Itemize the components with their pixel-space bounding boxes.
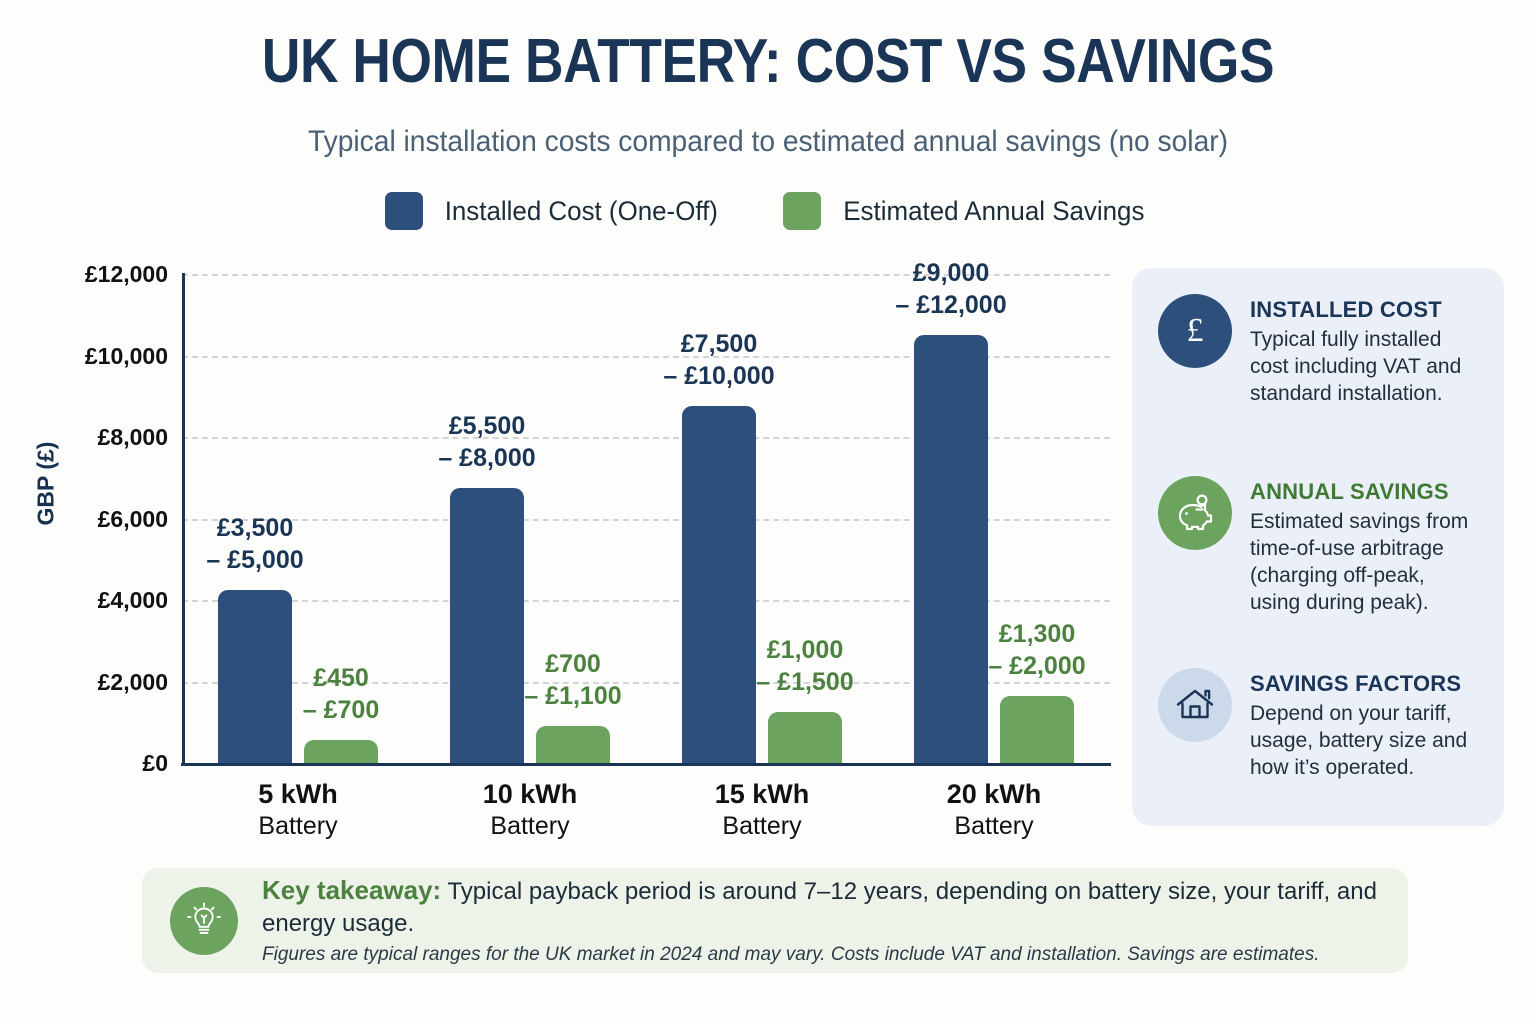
key-takeaway-text: Key takeaway: Typical payback period is …	[262, 874, 1380, 940]
key-takeaway-banner: Key takeaway: Typical payback period is …	[142, 868, 1408, 973]
plot-area: £3,500– £5,000£450– £700£5,500– £8,000£7…	[182, 274, 1110, 763]
house-icon	[1158, 668, 1232, 742]
svg-text:£: £	[1187, 312, 1204, 349]
piggy-bank-icon	[1158, 476, 1232, 550]
bar-label-installed-cost: £7,500– £10,000	[629, 328, 809, 392]
x-axis-category-label: 5 kWhBattery	[183, 778, 413, 842]
sidebar-card-installed-cost[interactable]: £ INSTALLED COST Typical fully installed…	[1158, 294, 1480, 407]
x-axis-category-label: 10 kWhBattery	[415, 778, 645, 842]
sidebar-card-body: Depend on your tariff, usage, battery si…	[1250, 700, 1480, 781]
key-takeaway-lead: Key takeaway:	[262, 875, 441, 905]
y-axis-tick-label: £4,000	[48, 587, 168, 614]
lightbulb-icon	[170, 887, 238, 955]
bar-label-annual-savings: £700– £1,100	[483, 648, 663, 712]
bar-label-annual-savings: £1,300– £2,000	[947, 618, 1127, 682]
y-axis-tick-label: £8,000	[48, 424, 168, 451]
bar-label-installed-cost: £5,500– £8,000	[397, 410, 577, 474]
info-sidebar-panel: £ INSTALLED COST Typical fully installed…	[1132, 268, 1504, 826]
pound-sterling-icon: £	[1158, 294, 1232, 368]
sidebar-card-annual-savings[interactable]: ANNUAL SAVINGS Estimated savings from ti…	[1158, 476, 1480, 616]
bar-chart: GBP (£) £0£2,000£4,000£6,000£8,000£10,00…	[0, 0, 1130, 860]
sidebar-card-heading: ANNUAL SAVINGS	[1250, 478, 1480, 506]
sidebar-card-heading: SAVINGS FACTORS	[1250, 670, 1480, 698]
bar-installed-cost[interactable]	[450, 488, 524, 763]
y-axis-tick-label: £2,000	[48, 669, 168, 696]
sidebar-card-body: Typical fully installed cost including V…	[1250, 326, 1480, 407]
bar-installed-cost[interactable]	[914, 335, 988, 763]
y-axis-ticks: £0£2,000£4,000£6,000£8,000£10,000£12,000	[40, 0, 168, 860]
y-axis-tick-label: £6,000	[48, 506, 168, 533]
bar-label-annual-savings: £450– £700	[251, 662, 431, 726]
key-takeaway-footnote: Figures are typical ranges for the UK ma…	[262, 940, 1380, 970]
bar-label-installed-cost: £3,500– £5,000	[165, 512, 345, 576]
sidebar-card-savings-factors[interactable]: SAVINGS FACTORS Depend on your tariff, u…	[1158, 668, 1480, 781]
sidebar-card-heading: INSTALLED COST	[1250, 296, 1480, 324]
bar-installed-cost[interactable]	[682, 406, 756, 763]
bar-annual-savings[interactable]	[768, 712, 842, 763]
y-axis-line	[182, 273, 185, 764]
x-axis-line	[181, 763, 1111, 766]
y-axis-tick-label: £0	[48, 750, 168, 777]
y-axis-tick-label: £10,000	[48, 343, 168, 370]
y-axis-tick-label: £12,000	[48, 261, 168, 288]
bar-label-annual-savings: £1,000– £1,500	[715, 634, 895, 698]
x-axis-category-label: 15 kWhBattery	[647, 778, 877, 842]
bar-annual-savings[interactable]	[304, 740, 378, 763]
bar-annual-savings[interactable]	[536, 726, 610, 763]
bar-annual-savings[interactable]	[1000, 696, 1074, 763]
bar-label-installed-cost: £9,000– £12,000	[861, 257, 1041, 321]
x-axis-category-label: 20 kWhBattery	[879, 778, 1109, 842]
sidebar-card-body: Estimated savings from time-of-use arbit…	[1250, 508, 1480, 616]
